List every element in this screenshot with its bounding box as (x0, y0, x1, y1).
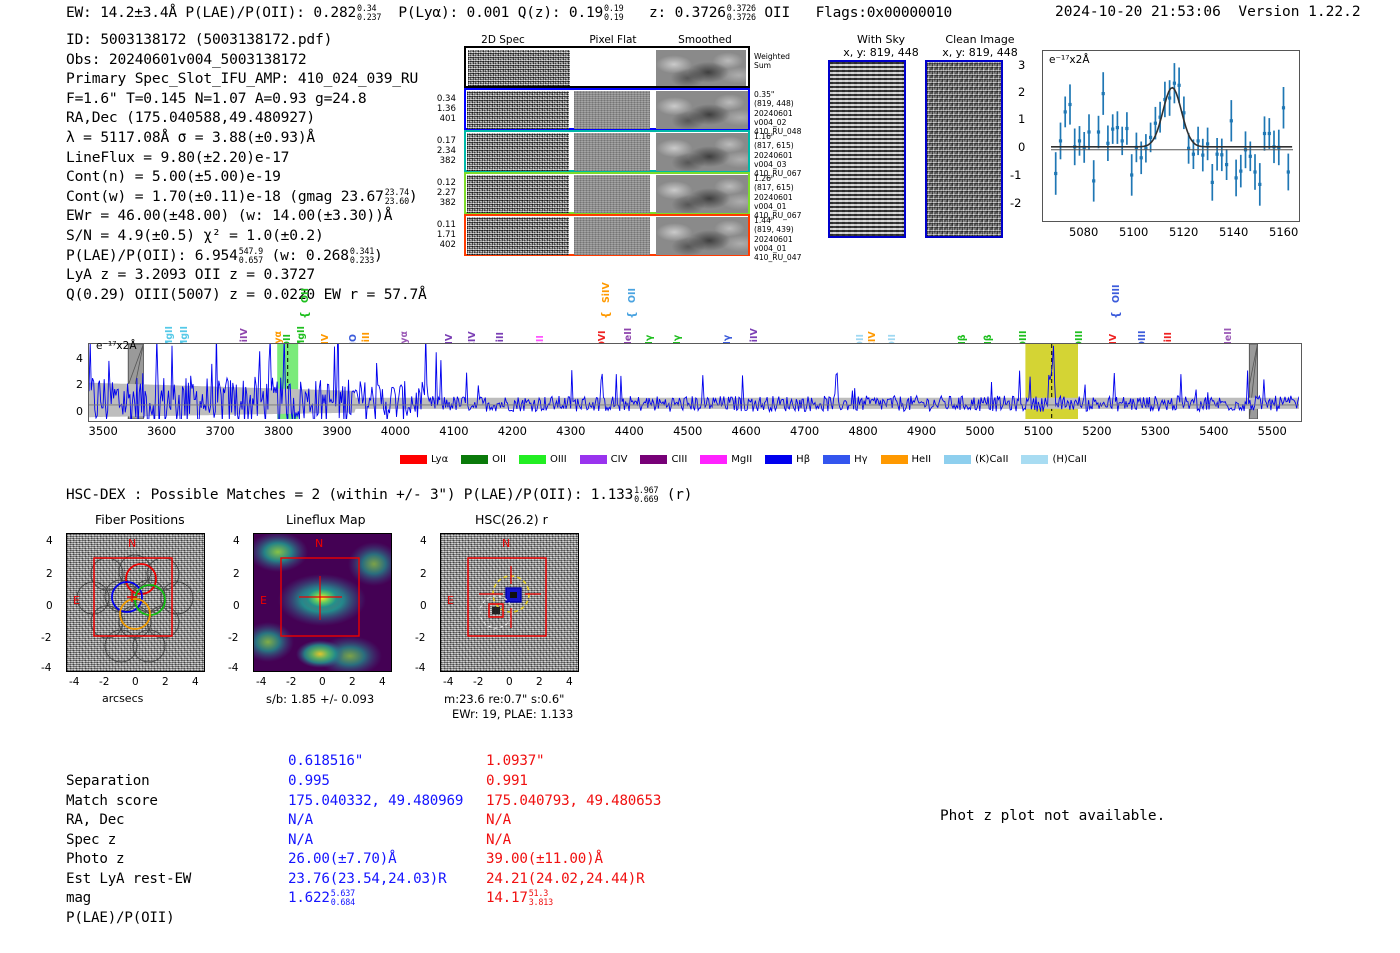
legend-label: Lyα (431, 454, 448, 465)
qz-summary: Q(z): 0.19 (518, 5, 603, 21)
legend-swatch (461, 455, 488, 464)
info-sn: S/N = 4.9(±0.5) χ² = 1.0(±0.2) (66, 226, 427, 246)
panel-xtick: 2 (162, 676, 169, 688)
with-sky-image (828, 60, 906, 238)
z-summary: z: 0.3726 (649, 5, 726, 21)
emission-line-label: SiIV (601, 282, 612, 303)
full-spectrum-svg (89, 344, 1299, 419)
lineflux-map-svg (254, 534, 391, 671)
fiber-xtick-row: -4-2024 (66, 676, 205, 690)
legend-label: (H)CaII (1052, 454, 1086, 465)
legend-swatch (765, 455, 792, 464)
fiber-row-3 (464, 214, 750, 256)
fit-xtick-5140: 5140 (1219, 225, 1248, 239)
match-value-col1: 23.76(23.54,24.03)R (288, 870, 447, 890)
spectrum-xtick: 4800 (848, 424, 877, 438)
fit-plot-svg (1043, 51, 1299, 221)
match-value-col2: 175.040793, 49.480653 (486, 792, 661, 812)
timestamp: 2024-10-20 21:53:06 (1055, 4, 1221, 20)
legend-swatch (1021, 455, 1048, 464)
panel-xtick: -4 (256, 676, 266, 688)
spectrum-xtick: 4000 (381, 424, 410, 438)
spectrum-ytick-2: 2 (76, 378, 83, 391)
match-value-col1: N/A (288, 831, 313, 851)
spectrum-xtick: 4700 (790, 424, 819, 438)
emission-line-label: OIII (1111, 285, 1122, 303)
info-ewr: EWr = 46.00(±48.00) (w: 14.00(±3.30))Å (66, 206, 427, 226)
fit-ytick-3: 3 (1018, 58, 1025, 72)
info-lambda: λ = 5117.08Å σ = 3.88(±0.93)Å (66, 128, 427, 148)
fiber-row-2-left-labels: 0.122.27382 (424, 178, 456, 209)
spectrum-xtick: 4300 (556, 424, 585, 438)
weighted-sum-label: WeightedSum (754, 52, 790, 71)
info-radec: RA,Dec (175.040588,49.480927) (66, 108, 427, 128)
fiber-row-0-pixelflat (574, 91, 650, 129)
line-fit-plot: e⁻¹⁷x2Å (1042, 50, 1300, 222)
panel-xtick: 4 (566, 676, 573, 688)
match-row-label: Spec z (66, 831, 116, 851)
panel-xtick: -2 (99, 676, 109, 688)
legend-label: CIV (611, 454, 628, 465)
fiber-compass-e: E (73, 594, 80, 607)
full-spectrum-plot (88, 343, 1302, 422)
info-specslot: Primary Spec_Slot_IFU_AMP: 410_024_039_R… (66, 69, 427, 89)
qz-errors: 0.190.19 (604, 4, 623, 22)
source-info-block: ID: 5003138172 (5003138172.pdf) Obs: 202… (66, 30, 427, 304)
spectrum-xtick: 3700 (205, 424, 234, 438)
fiber-row-1-right-labels: 1.16"(817, 615)20240601v004_03410_RU_067 (754, 132, 801, 178)
lineflux-ytick-m2: -2 (228, 632, 238, 644)
hsc-ytick-m4: -4 (415, 662, 425, 674)
fiber-row-3-2dspec (467, 217, 569, 255)
clean-image-label: Clean Imagex, y: 819, 448 (915, 33, 1045, 59)
fiber-row-3-pixelflat (574, 217, 650, 255)
info-redshifts: LyA z = 3.2093 OII z = 0.3727 (66, 265, 427, 285)
lineflux-ytick-2: 2 (233, 568, 240, 580)
cutout-title-pixelflat: Pixel Flat (573, 34, 653, 46)
clean-image (925, 60, 1003, 238)
spectrum-xtick-row: 3500360037003800390040004100420043004400… (0, 424, 1400, 444)
info-cont-w: Cont(w) = 1.70(±0.11)e-18 (gmag 23.6723.… (66, 187, 427, 207)
spectrum-xtick: 5300 (1141, 424, 1170, 438)
info-obs: Obs: 20240601v004_5003138172 (66, 50, 427, 70)
match-value-col2: 24.21(24.02,24.44)R (486, 870, 645, 890)
match-value-col2: N/A (486, 811, 511, 831)
match-row-label: Match score (66, 792, 158, 812)
legend-label: MgII (731, 454, 752, 465)
legend-label: OIII (550, 454, 567, 465)
fit-xtick-5080: 5080 (1069, 225, 1098, 239)
match-value-col1: 0.618516" (288, 752, 363, 772)
fit-ytick-m1: -1 (1010, 168, 1021, 182)
spectrum-ytick-4: 4 (76, 352, 83, 365)
spectrum-xtick: 4400 (615, 424, 644, 438)
emission-line-label: OII (627, 288, 638, 303)
spectrum-xtick: 3800 (264, 424, 293, 438)
ew-summary: EW: 14.2±3.4Å (66, 5, 177, 21)
legend-item: MgII (700, 455, 752, 466)
match-row-label: P(LAE)/P(OII) (66, 909, 174, 929)
lineflux-ytick-m4: -4 (228, 662, 238, 674)
fiber-positions-image (66, 533, 205, 672)
fiber-positions-overlay (67, 534, 204, 671)
weighted-sum-row (464, 46, 750, 88)
info-q-oiii: Q(0.29) OIII(5007) z = 0.0220 EW r = 57.… (66, 285, 427, 305)
legend-label: HeII (912, 454, 932, 465)
spectrum-xtick: 3500 (89, 424, 118, 438)
match-value-col2: 0.991 (486, 772, 528, 792)
legend-swatch (700, 455, 727, 464)
lineflux-sb-label: s/b: 1.85 +/- 0.093 (266, 692, 374, 706)
hsc-compass-n: N (502, 537, 510, 550)
spectrum-xtick: 4100 (439, 424, 468, 438)
match-row-label: Photo z (66, 850, 124, 870)
match-value-col2: N/A (486, 831, 511, 851)
fiber-row-2-smoothed (656, 175, 748, 213)
flags: Flags:0x00000010 (816, 5, 952, 21)
legend-swatch (580, 455, 607, 464)
hsc-ytick-0: 0 (420, 600, 427, 612)
emission-line-bracket: { (1109, 311, 1122, 319)
panel-xtick: 2 (349, 676, 356, 688)
legend-label: Hβ (796, 454, 810, 465)
legend-item: CIV (580, 455, 628, 466)
photz-note: Phot z plot not available. (940, 808, 1165, 824)
info-id: ID: 5003138172 (5003138172.pdf) (66, 30, 427, 50)
fiber-row-2-right-labels: 1.26"(817, 615)20240601v004_01410_RU_067 (754, 174, 801, 220)
fiber-row-1 (464, 130, 750, 172)
emission-line-bracket: { (298, 311, 311, 319)
legend-item: Lyα (400, 455, 448, 466)
fiber-xlabel: arcsecs (102, 692, 143, 705)
spectrum-xtick: 4600 (732, 424, 761, 438)
spectrum-xtick: 5100 (1024, 424, 1053, 438)
panel-title-hsc-r: HSC(26.2) r (475, 512, 548, 527)
spectrum-xtick: 3900 (322, 424, 351, 438)
legend-swatch (944, 455, 971, 464)
fiber-row-2-pixelflat (574, 175, 650, 213)
legend-swatch (823, 455, 850, 464)
fiber-compass-n: N (128, 537, 136, 550)
spectrum-xtick: 4200 (498, 424, 527, 438)
fiber-row-1-pixelflat (574, 133, 650, 171)
match-value-col1: N/A (288, 811, 313, 831)
hsc-xtick-row: -4-2024 (440, 676, 579, 690)
legend-item: Hγ (823, 455, 867, 466)
legend-item: OIII (519, 455, 567, 466)
panel-xtick: -2 (286, 676, 296, 688)
fiber-row-0 (464, 88, 750, 130)
match-value-col1: 175.040332, 49.480969 (288, 792, 463, 812)
timestamp-version: 2024-10-20 21:53:06 Version 1.22.2 (1055, 4, 1361, 20)
legend-swatch (640, 455, 667, 464)
fiber-row-0-smoothed (656, 91, 748, 129)
lineflux-compass-n: N (315, 537, 323, 550)
lineflux-xtick-row: -4-2024 (253, 676, 392, 690)
hsc-ytick-m2: -2 (415, 632, 425, 644)
hsc-ytick-2: 2 (420, 568, 427, 580)
fiber-row-0-right-labels: 0.35"(819, 448)20240601v004_02410_RU_048 (754, 90, 801, 136)
fit-ytick-0: 0 (1018, 140, 1025, 154)
legend-label: OII (492, 454, 506, 465)
z-errors: 0.37260.3726 (727, 4, 756, 22)
panel-xtick: -4 (69, 676, 79, 688)
legend-label: CIII (671, 454, 687, 465)
info-lineflux: LineFlux = 9.80(±2.20)e-17 (66, 148, 427, 168)
spectrum-xtick: 5200 (1082, 424, 1111, 438)
plae-poii-errors: 0.340.237 (357, 4, 381, 22)
fiber-ytick-4: 4 (46, 535, 53, 547)
emission-line-legend: LyαOIIOIIICIVCIIIMgIIHβHγHeII(K)CaII(H)C… (400, 454, 1100, 466)
fiber-row-3-left-labels: 0.111.71402 (424, 220, 456, 251)
fit-ytick-2: 2 (1018, 85, 1025, 99)
lineflux-compass-e: E (260, 594, 267, 607)
fiber-row-2-2dspec (467, 175, 569, 213)
spectrum-ytick-0: 0 (76, 405, 83, 418)
hsc-compass-e: E (447, 594, 454, 607)
legend-swatch (881, 455, 908, 464)
match-value-col2: 39.00(±11.00)Å (486, 850, 603, 870)
legend-item: CIII (640, 455, 687, 466)
match-value-col2: 1.0937" (486, 752, 544, 772)
legend-swatch (400, 455, 427, 464)
hsc-meta-line1: m:23.6 re:0.7" s:0.6" (444, 692, 564, 706)
hsc-dex-headline: HSC-DEX : Possible Matches = 2 (within +… (66, 486, 692, 504)
panel-xtick: 0 (132, 676, 139, 688)
legend-item: Hβ (765, 455, 810, 466)
info-cont-n: Cont(n) = 5.00(±5.00)e-19 (66, 167, 427, 187)
fiber-ytick-0: 0 (46, 600, 53, 612)
spectrum-xtick: 4500 (673, 424, 702, 438)
info-plae: P(LAE)/P(OII): 6.954547.90.657 (w: 0.268… (66, 246, 427, 266)
panel-title-fiber-positions: Fiber Positions (95, 512, 185, 527)
legend-item: (K)CaII (944, 455, 1008, 466)
fiber-row-3-smoothed (656, 217, 748, 255)
legend-item: OII (461, 455, 506, 466)
spectrum-xtick: 4900 (907, 424, 936, 438)
plya-summary: P(Lyα): 0.001 (398, 5, 509, 21)
fit-xtick-5120: 5120 (1169, 225, 1198, 239)
spectrum-unit-label: e⁻¹⁷x2Å (96, 340, 137, 352)
fit-xtick-5160: 5160 (1269, 225, 1298, 239)
spectrum-xtick: 5500 (1258, 424, 1287, 438)
hsc-ytick-4: 4 (420, 535, 427, 547)
panel-xtick: 2 (536, 676, 543, 688)
lineflux-ytick-0: 0 (233, 600, 240, 612)
legend-item: (H)CaII (1021, 455, 1086, 466)
fiber-ytick-2: 2 (46, 568, 53, 580)
panel-xtick: -4 (443, 676, 453, 688)
weighted-sum-2dspec (468, 50, 570, 86)
info-seeing: F=1.6" T=0.145 N=1.07 A=0.93 g=24.8 (66, 89, 427, 109)
lineflux-map-image (253, 533, 392, 672)
match-value-col1: 0.995 (288, 772, 330, 792)
panel-title-lineflux-map: Lineflux Map (286, 512, 366, 527)
match-row-label: Est LyA rest-EW (66, 870, 191, 890)
spectrum-xtick: 5000 (965, 424, 994, 438)
match-row-label: Separation (66, 772, 149, 792)
fiber-row-1-smoothed (656, 133, 748, 171)
legend-swatch (519, 455, 546, 464)
version: Version 1.22.2 (1238, 4, 1360, 20)
panel-xtick: 0 (506, 676, 513, 688)
panel-xtick: -2 (473, 676, 483, 688)
hsc-meta-line2: EWr: 19, PLAE: 1.133 (452, 707, 573, 721)
legend-label: Hγ (854, 454, 867, 465)
fiber-ytick-m2: -2 (41, 632, 51, 644)
emission-line-bracket: { (625, 311, 638, 319)
cutout-title-2dspec: 2D Spec (468, 34, 538, 46)
fiber-row-2 (464, 172, 750, 214)
match-plae-col1: 1.6225.6370.684 (288, 889, 355, 909)
weighted-sum-smoothed (656, 50, 746, 86)
match-plae-col2: 14.1751.33.813 (486, 889, 553, 909)
fiber-row-3-right-labels: 1.44"(819, 439)20240601v004_01410_RU_047 (754, 216, 801, 262)
match-row-label: RA, Dec (66, 811, 124, 831)
cutout-title-smoothed: Smoothed (665, 34, 745, 46)
plae-poii-summary: P(LAE)/P(OII): 0.282 (185, 5, 356, 21)
fit-ytick-1: 1 (1018, 112, 1025, 126)
fiber-ytick-m4: -4 (41, 662, 51, 674)
summary-header-line: EW: 14.2±3.4Å P(LAE)/P(OII): 0.2820.340.… (66, 4, 952, 22)
fiber-row-0-left-labels: 0.341.36401 (424, 94, 456, 125)
fiber-row-0-2dspec (467, 91, 569, 129)
spectrum-xtick: 5400 (1199, 424, 1228, 438)
hsc-r-overlay (441, 534, 578, 671)
spectrum-xtick: 3600 (147, 424, 176, 438)
panel-xtick: 4 (192, 676, 199, 688)
fit-ytick-m2: -2 (1010, 196, 1021, 210)
z-type: OII (764, 5, 790, 21)
lineflux-ytick-4: 4 (233, 535, 240, 547)
fiber-row-1-left-labels: 0.172.34382 (424, 136, 456, 167)
fit-xtick-5100: 5100 (1119, 225, 1148, 239)
hsc-r-image (440, 533, 579, 672)
legend-item: HeII (881, 455, 932, 466)
match-row-label: mag (66, 889, 91, 909)
panel-xtick: 0 (319, 676, 326, 688)
match-value-col1: 26.00(±7.70)Å (288, 850, 396, 870)
emission-line-bracket: { (599, 311, 612, 319)
legend-label: (K)CaII (975, 454, 1008, 465)
fiber-row-1-2dspec (467, 133, 569, 171)
panel-xtick: 4 (379, 676, 386, 688)
